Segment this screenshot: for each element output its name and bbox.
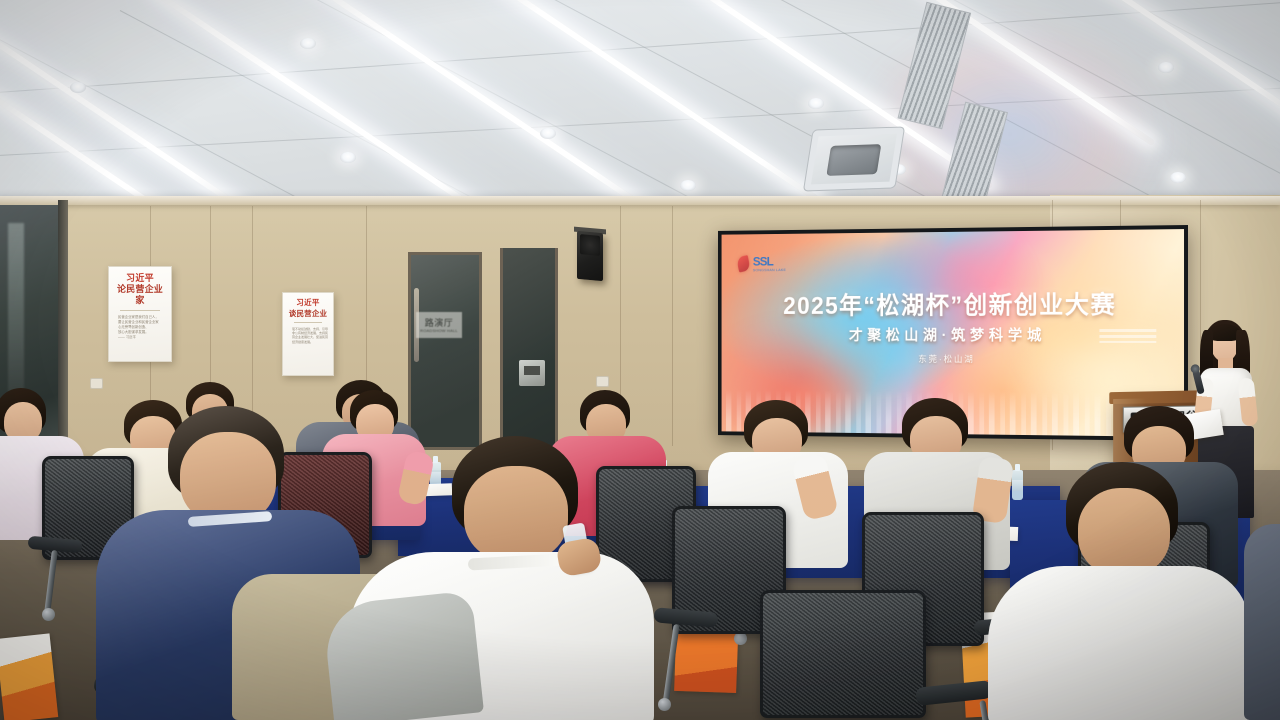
recessed-downlight [1170, 172, 1186, 183]
recessed-downlight [300, 38, 316, 49]
recessed-downlight [808, 98, 824, 109]
wall-socket[interactable] [90, 378, 103, 389]
attendee-head [464, 466, 568, 562]
access-control-panel[interactable] [519, 360, 545, 386]
door-sign-en: ROADSHOW HALL [420, 328, 458, 333]
wall-poster-right: 习近平 谈民营企业 毫不动摇鼓励、支持、引导 非公有制经济发展，支持民 营企业发… [282, 292, 334, 376]
attendee-torso [988, 566, 1250, 720]
wall-trim [0, 196, 1280, 205]
attendee-torso [1244, 524, 1280, 720]
recessed-downlight [70, 82, 86, 93]
poster-title: 习近平 [288, 299, 328, 308]
logo-mark-subtext: SONGSHAN LAKE [753, 268, 786, 272]
wall-socket[interactable] [596, 376, 609, 387]
poster-body: 民营企业家是我们自己人， 要让民营企业和民营企业家 心无旁骛创新创造、 放心大胆… [114, 315, 163, 340]
conference-room-photo: 路演厅 ROADSHOW HALL 习近平 论民营企业家 民营企业家是我们自己人… [0, 0, 1280, 720]
poster-line: —— 习近平 [118, 335, 159, 340]
recessed-downlight [540, 128, 556, 139]
wall-recess-column [500, 248, 558, 454]
event-location: 东莞·松山湖 [722, 352, 1184, 366]
attendee-edge-right [1244, 494, 1280, 720]
brochure[interactable] [0, 633, 58, 720]
poster-subtitle: 谈民营企业 [288, 309, 328, 318]
ac-cassette-unit [803, 126, 905, 191]
event-subtitle: 才聚松山湖·筑梦科学城 [722, 324, 1184, 345]
ceiling [0, 0, 1280, 215]
wall-loudspeaker [577, 231, 603, 281]
door-sign-cn: 路演厅 [425, 318, 454, 328]
logo-mark-text: SSL [753, 255, 786, 268]
poster-line: 经济健康发展。 [292, 340, 328, 344]
recessed-downlight [1158, 62, 1174, 73]
ceiling-light-strip [298, 0, 658, 215]
poster-title: 习近平 [114, 273, 166, 283]
recessed-downlight [340, 152, 356, 163]
attendee-10 [1000, 462, 1250, 720]
door-sign: 路演厅 ROADSHOW HALL [416, 312, 462, 338]
flame-icon [736, 255, 750, 272]
poster-subtitle: 论民营企业家 [114, 284, 166, 306]
event-title: 2025年“松湖杯”创新创业大赛 [722, 285, 1184, 322]
attendee-head [1078, 488, 1170, 576]
event-logo: SSL SONGSHAN LAKE [738, 255, 786, 273]
wall-poster-left: 习近平 论民营企业家 民营企业家是我们自己人， 要让民营企业和民营企业家 心无旁… [108, 266, 172, 362]
poster-body: 毫不动摇鼓励、支持、引导 非公有制经济发展，支持民 营企业发展壮大，促进民营 经… [288, 327, 332, 344]
